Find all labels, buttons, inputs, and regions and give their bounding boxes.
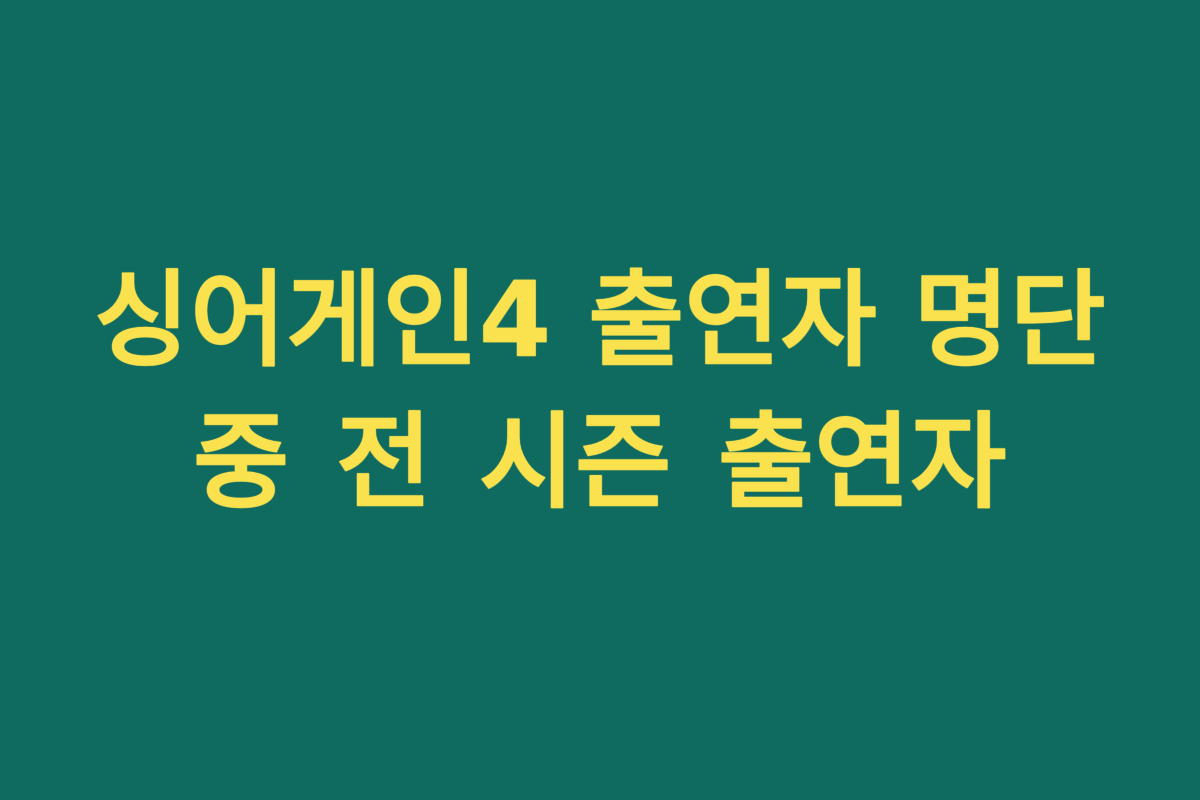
thumbnail-canvas: 싱어게인4 출연자 명단 중 전 시즌 출연자 [0,0,1200,800]
title-block: 싱어게인4 출연자 명단 중 전 시즌 출연자 [0,249,1200,533]
title-line-2: 중 전 시즌 출연자 [40,391,1160,533]
title-line-1: 싱어게인4 출연자 명단 [40,249,1160,391]
